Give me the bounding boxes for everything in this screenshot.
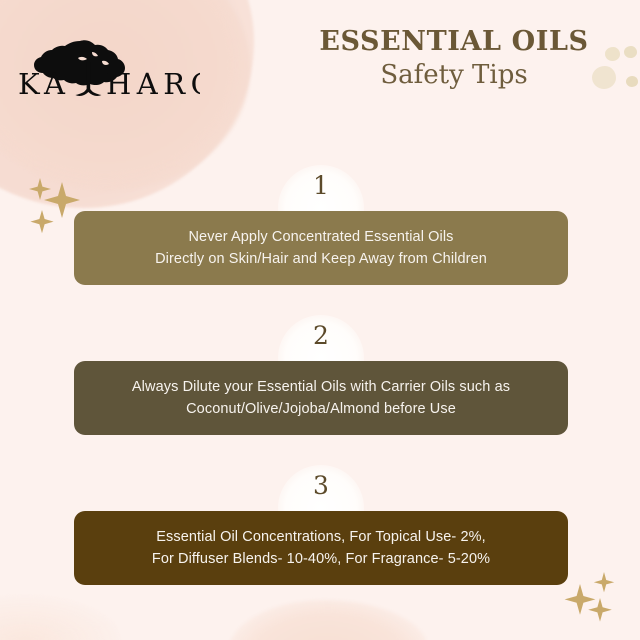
oil-droplet-icon <box>624 46 637 58</box>
tip-text: Always Dilute your Essential Oils with C… <box>132 376 510 420</box>
tip-text: Essential Oil Concentrations, For Topica… <box>152 526 490 570</box>
sparkle-icon <box>30 210 53 233</box>
tip-card: Essential Oil Concentrations, For Topica… <box>74 511 568 585</box>
watercolor-blob-bottom-left <box>0 596 120 640</box>
tip-line-1: Never Apply Concentrated Essential Oils <box>188 229 453 245</box>
tip-line-2: Directly on Skin/Hair and Keep Away from… <box>155 251 487 267</box>
infographic-poster: KA HAROS ESSENTIAL OILS Safety Tips <box>0 0 640 640</box>
tip-number: 3 <box>278 473 364 498</box>
tip-line-1: Essential Oil Concentrations, For Topica… <box>156 529 486 545</box>
sparkle-icon <box>44 182 80 218</box>
watercolor-blob-bottom <box>228 600 428 640</box>
tip-line-2: For Diffuser Blends- 10-40%, For Fragran… <box>152 551 490 567</box>
tree-icon: KA HAROS <box>18 28 200 110</box>
tip-number: 2 <box>278 323 364 348</box>
brand-logo: KA HAROS <box>18 28 200 110</box>
tip-line-2: Coconut/Olive/Jojoba/Almond before Use <box>186 401 456 417</box>
tip-number: 1 <box>278 173 364 198</box>
tip-text: Never Apply Concentrated Essential Oils … <box>155 226 487 270</box>
sparkle-icon <box>29 178 51 200</box>
tip-line-1: Always Dilute your Essential Oils with C… <box>132 379 510 395</box>
page-title: ESSENTIAL OILS <box>304 28 604 56</box>
oil-droplet-icon <box>605 47 620 61</box>
tip-card: Never Apply Concentrated Essential Oils … <box>74 211 568 285</box>
oil-droplet-icon <box>626 76 638 87</box>
oil-droplet-icon <box>592 66 616 89</box>
brand-letters-before: KA <box>18 67 70 101</box>
sparkle-icon <box>594 572 614 592</box>
page-subtitle: Safety Tips <box>304 59 604 93</box>
header: ESSENTIAL OILS Safety Tips <box>304 28 604 93</box>
brand-letters-after: HAROS <box>106 67 200 101</box>
sparkle-icon <box>588 598 612 622</box>
tip-card: Always Dilute your Essential Oils with C… <box>74 361 568 435</box>
sparkle-cluster-right <box>562 570 626 637</box>
